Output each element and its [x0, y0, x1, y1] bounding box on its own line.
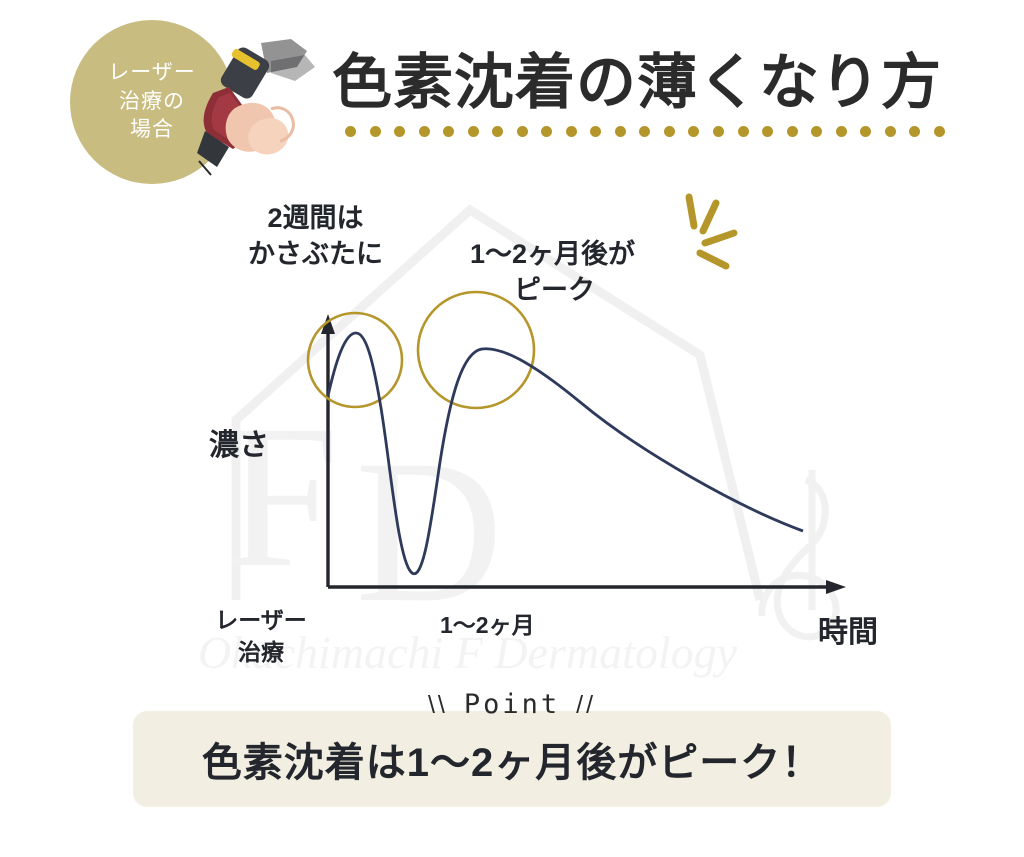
- x-axis-label: 時間: [818, 607, 878, 651]
- point-heading: \\Point//: [0, 689, 1024, 720]
- sparkle-icon: [689, 197, 734, 266]
- badge-line-3: 場合: [130, 116, 174, 145]
- point-label: Point: [464, 689, 560, 720]
- y-axis-label: 濃さ: [209, 420, 269, 464]
- laser-handpiece-icon: [175, 35, 325, 180]
- annotation-scab-line1: 2週間は: [267, 203, 363, 233]
- title-dot: [909, 126, 920, 137]
- title-dot: [541, 126, 552, 137]
- title-dot: [615, 126, 626, 137]
- title-dot: [345, 126, 356, 137]
- title-dot: [468, 126, 479, 137]
- x-tick-laser-line1: レーザー: [215, 607, 307, 633]
- chart-axes: [328, 328, 832, 587]
- title-dot-divider: [345, 124, 945, 138]
- annotation-peak-line1: 1〜2ヶ月後が: [470, 239, 635, 269]
- title-dot: [639, 126, 650, 137]
- title-dot: [885, 126, 896, 137]
- title-dot: [934, 126, 945, 137]
- annotation-scab-line2: かさぶたに: [248, 239, 383, 269]
- point-slash-right: //: [560, 691, 612, 720]
- page-title: 色素沈着の薄くなり方: [332, 34, 942, 121]
- x-tick-laser-line2: 治療: [238, 639, 284, 665]
- title-dot: [492, 126, 503, 137]
- pigmentation-curve: [328, 333, 803, 574]
- point-slash-left: \\: [412, 691, 464, 720]
- title-dot: [836, 126, 847, 137]
- title-dot: [566, 126, 577, 137]
- annotation-scab: 2週間は かさぶたに: [248, 200, 383, 272]
- first-peak-circle: [308, 313, 402, 407]
- x-axis-arrow: [826, 580, 846, 594]
- title-dot: [590, 126, 601, 137]
- title-dot: [517, 126, 528, 137]
- title-dot: [860, 126, 871, 137]
- title-dot: [811, 126, 822, 137]
- title-dot: [370, 126, 381, 137]
- title-dot: [664, 126, 675, 137]
- infographic-root: F D Okachimachi F Dermatology レーザー 治療の 場…: [0, 0, 1024, 857]
- annotation-peak: 1〜2ヶ月後が ピーク: [470, 236, 635, 308]
- title-dot: [443, 126, 454, 137]
- title-dot: [713, 126, 724, 137]
- title-dot: [419, 126, 430, 137]
- title-dot: [787, 126, 798, 137]
- title-dot: [394, 126, 405, 137]
- title-dot: [738, 126, 749, 137]
- point-message: 色素沈着は1〜2ヶ月後がピーク！: [133, 711, 891, 807]
- annotation-peak-line2: ピーク: [470, 272, 635, 308]
- x-tick-one-to-two-months: 1〜2ヶ月: [440, 606, 535, 640]
- title-dot: [688, 126, 699, 137]
- x-tick-laser-treatment: レーザー 治療: [196, 604, 326, 668]
- title-dot: [762, 126, 773, 137]
